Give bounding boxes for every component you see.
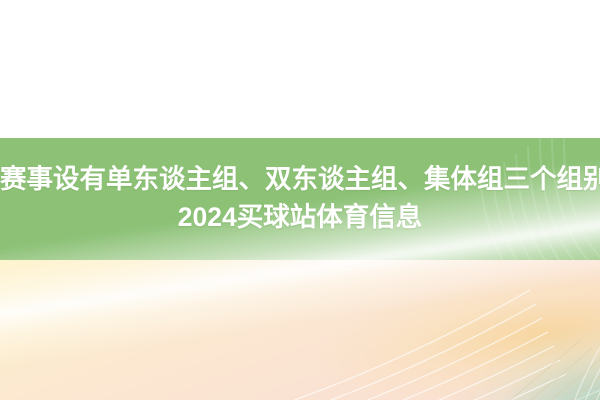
headline-line-2: 2024买球站体育信息 bbox=[0, 201, 600, 235]
lower-background-field bbox=[0, 260, 600, 400]
headline-line-1: 赛事设有单东谈主组、双东谈主组、集体组三个组别 bbox=[0, 163, 600, 197]
text-band: 赛事设有单东谈主组、双东谈主组、集体组三个组别 2024买球站体育信息 bbox=[0, 138, 600, 260]
stripe-arcs-band-icon bbox=[360, 138, 600, 260]
banner-image: 赛事设有单东谈主组、双东谈主组、集体组三个组别 2024买球站体育信息 bbox=[0, 0, 600, 400]
